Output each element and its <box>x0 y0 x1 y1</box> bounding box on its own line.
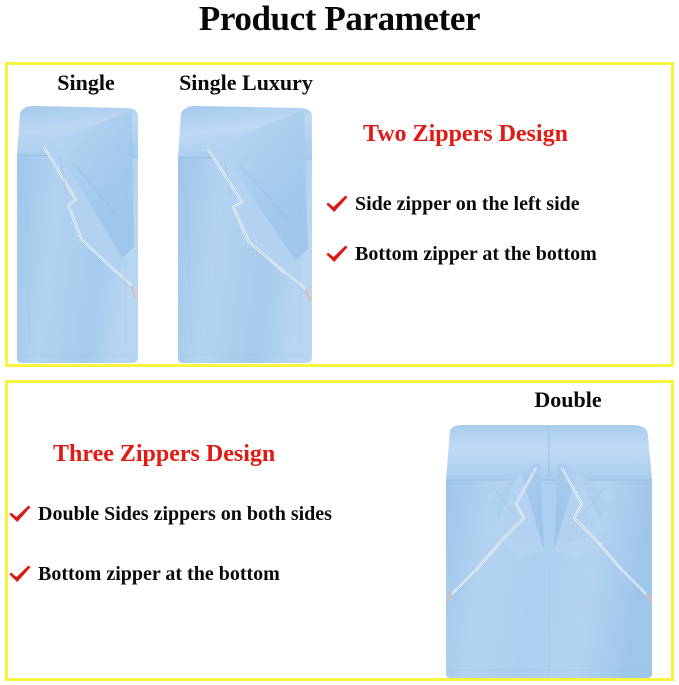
bullet-text: Double Sides zippers on both sides <box>38 503 332 525</box>
red-check-icon <box>325 193 349 215</box>
bullet-row: Bottom zipper at the bottom <box>325 243 597 265</box>
two-zippers-design-heading: Two Zippers Design <box>363 121 568 148</box>
red-check-icon <box>8 563 32 585</box>
red-check-icon <box>325 243 349 265</box>
page-title: Product Parameter <box>0 0 679 41</box>
sleeping-bag-liner-double-icon <box>424 418 674 678</box>
sleeping-bag-liner-single-luxury-icon <box>174 97 320 365</box>
red-check-icon <box>8 503 32 525</box>
bullet-row: Double Sides zippers on both sides <box>8 503 332 525</box>
product-parameter-infographic: Product Parameter <box>0 0 679 685</box>
bullet-row: Bottom zipper at the bottom <box>8 563 280 585</box>
product-caption-single-luxury: Single Luxury <box>151 70 341 96</box>
product-caption-single: Single <box>26 70 146 96</box>
bullet-text: Bottom zipper at the bottom <box>355 243 597 265</box>
three-zippers-design-heading: Three Zippers Design <box>53 441 275 468</box>
sleeping-bag-liner-single-icon <box>14 97 146 365</box>
bullet-text: Bottom zipper at the bottom <box>38 563 280 585</box>
bullet-text: Side zipper on the left side <box>355 193 580 215</box>
product-caption-double: Double <box>488 387 648 413</box>
bullet-row: Side zipper on the left side <box>325 193 580 215</box>
